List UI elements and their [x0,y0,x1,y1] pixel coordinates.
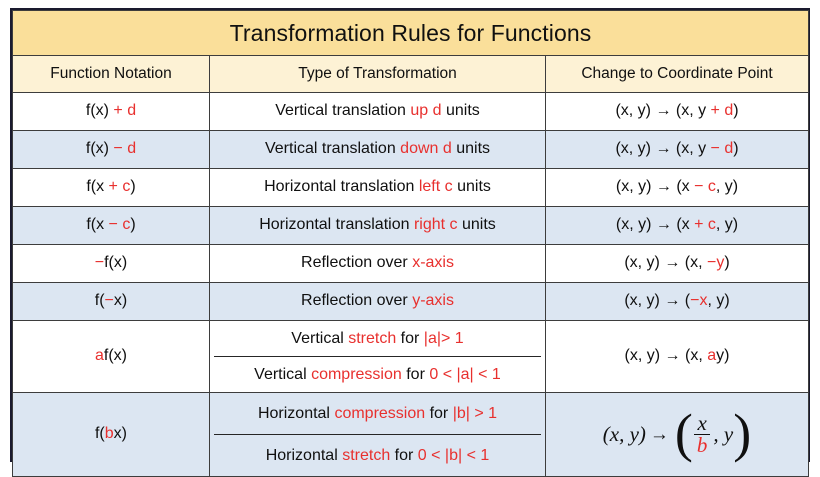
arrow-icon: → [664,292,680,309]
cell-function-notation: −f(x) [13,245,210,283]
cell-type-of-transformation: Vertical translation up d units [210,93,546,131]
cell-type-of-transformation: Reflection over x-axis [210,245,546,283]
cell-function-notation: f(bx) [13,393,210,477]
cell-type-of-transformation: Horizontal translation right c units [210,207,546,245]
text-plain: for [390,447,418,464]
text-highlight: −y [707,254,724,271]
column-header-type-of-transformation: Type of Transformation [210,56,546,93]
text-condition: |a|> 1 [424,330,464,347]
cell-coordinate-change-fraction: (x, y) → ( x b , y ) [546,393,809,477]
title-row: Transformation Rules for Functions [13,11,809,56]
text-plain: y) [716,347,729,364]
text-highlight: − [105,292,114,309]
text-plain: Vertical [291,330,348,347]
text-plain: (x, y) [616,216,656,233]
text-plain: (x, y) [624,254,664,271]
text-highlight: right c [414,216,458,233]
cell-type-of-transformation: Horizontal translation left c units [210,169,546,207]
text-highlight: compression [311,366,402,383]
math-expression: (x, y) → ( x b , y ) [603,413,751,457]
text-plain: f(x) [104,347,127,364]
table-row-merged: f(bx) Horizontal compression for |b| > 1… [13,393,809,477]
text-plain: Horizontal [258,405,334,422]
text-condition: 0 < |a| < 1 [429,366,500,383]
text-highlight: compression [334,405,425,422]
text-highlight: − [95,254,104,271]
cell-sub-type: Vertical stretch for |a|> 1 [214,321,541,357]
table-row: f(x + c) Horizontal translation left c u… [13,169,809,207]
cell-function-notation: f(x + c) [13,169,210,207]
text-plain: f(x [86,178,108,195]
text-highlight: − d [113,140,136,157]
text-plain: for [402,366,430,383]
text-highlight: + c [694,216,716,233]
text-plain: Horizontal [266,447,342,464]
cell-sub-type: Horizontal compression for |b| > 1 [214,393,541,435]
text-plain: f(x) [86,140,114,157]
text-plain: Horizontal translation [259,216,414,233]
text-highlight: a [95,347,104,364]
cell-function-notation: f(−x) [13,283,210,321]
table-row-merged: af(x) Vertical stretch for |a|> 1 Vertic… [13,321,809,393]
text-plain: ) [130,216,135,233]
cell-function-notation: f(x) + d [13,93,210,131]
text-highlight: y-axis [412,292,454,309]
open-paren: ( [675,417,693,450]
cell-coordinate-change: (x, y) → (x, y − d) [546,131,809,169]
text-plain: f( [95,425,105,442]
text-plain: (x, y [671,140,710,157]
arrow-icon: → [655,102,671,119]
cell-coordinate-change: (x, y) → (−x, y) [546,283,809,321]
sub-row: Horizontal compression for |b| > 1 [214,393,541,435]
cell-function-notation: f(x) − d [13,131,210,169]
sub-row: Vertical stretch for |a|> 1 [214,321,541,357]
column-header-row: Function Notation Type of Transformation… [13,56,809,93]
fraction: x b [694,413,711,457]
math-tail: , y [713,422,733,446]
sub-row: Vertical compression for 0 < |a| < 1 [214,357,541,393]
text-plain: (x, y) [615,102,655,119]
text-plain: (x, [680,254,707,271]
cell-coordinate-change: (x, y) → (x − c, y) [546,169,809,207]
text-plain: , y) [707,292,729,309]
text-highlight: x-axis [412,254,454,271]
text-plain: (x [672,216,694,233]
transformation-rules-table-container: Transformation Rules for Functions Funct… [10,8,810,462]
cell-type-of-transformation: Vertical translation down d units [210,131,546,169]
text-plain: ) [724,254,729,271]
text-plain: units [452,140,490,157]
text-plain: for [425,405,453,422]
cell-type-of-transformation: Reflection over y-axis [210,283,546,321]
text-plain: Reflection over [301,292,412,309]
math-lead: (x, y) [603,422,646,446]
text-plain: units [458,216,496,233]
text-plain: , y) [716,178,738,195]
text-highlight: −x [690,292,707,309]
table-row: −f(x) Reflection over x-axis (x, y) → (x… [13,245,809,283]
text-plain: (x, y [671,102,710,119]
cell-function-notation: f(x − c) [13,207,210,245]
text-condition: 0 < |b| < 1 [418,447,489,464]
text-plain: (x, y) [616,178,656,195]
page-title: Transformation Rules for Functions [13,11,809,56]
text-plain: Horizontal translation [264,178,419,195]
text-highlight: stretch [348,330,396,347]
text-highlight: + d [711,102,734,119]
text-plain: , y) [716,216,738,233]
text-plain: ) [130,178,135,195]
table-row: f(−x) Reflection over y-axis (x, y) → (−… [13,283,809,321]
arrow-icon: → [656,216,672,233]
text-plain: units [453,178,491,195]
text-plain: x) [114,292,127,309]
arrow-icon: → [650,424,669,446]
arrow-icon: → [665,347,681,364]
text-highlight: b [105,425,114,442]
text-plain: (x [672,178,694,195]
column-header-change-to-coordinate-point: Change to Coordinate Point [546,56,809,93]
cell-function-notation: af(x) [13,321,210,393]
fraction-denominator: b [694,434,711,456]
arrow-icon: → [664,254,680,271]
text-plain: f(x) [86,102,114,119]
cell-coordinate-change: (x, y) → (x, ay) [546,321,809,393]
text-highlight: down d [400,140,452,157]
text-plain: ( [680,292,690,309]
text-plain: units [442,102,480,119]
text-highlight: − c [109,216,131,233]
text-highlight: a [707,347,716,364]
cell-type-of-transformation-group: Horizontal compression for |b| > 1 Horiz… [210,393,546,477]
text-highlight: stretch [342,447,390,464]
text-plain: f( [95,292,105,309]
text-highlight: + c [109,178,131,195]
text-highlight: up d [410,102,441,119]
table-row: f(x − c) Horizontal translation right c … [13,207,809,245]
text-plain: for [396,330,424,347]
arrow-icon: → [655,140,671,157]
text-highlight: − d [711,140,734,157]
text-plain: (x, y) [615,140,655,157]
text-plain: (x, y) [624,292,664,309]
text-plain: Vertical [254,366,311,383]
text-plain: Vertical translation [265,140,400,157]
text-plain: Reflection over [301,254,412,271]
text-highlight: left c [419,178,453,195]
table-row: f(x) + d Vertical translation up d units… [13,93,809,131]
cell-coordinate-change: (x, y) → (x, y + d) [546,93,809,131]
text-plain: (x, y) [625,347,665,364]
text-highlight: + d [113,102,136,119]
text-plain: ) [733,140,738,157]
cell-coordinate-change: (x, y) → (x + c, y) [546,207,809,245]
column-header-function-notation: Function Notation [13,56,210,93]
sub-table: Vertical stretch for |a|> 1 Vertical com… [214,321,541,392]
text-plain: x) [114,425,127,442]
text-plain: ) [733,102,738,119]
table-row: f(x) − d Vertical translation down d uni… [13,131,809,169]
text-plain: Vertical translation [275,102,410,119]
cell-sub-type: Vertical compression for 0 < |a| < 1 [214,357,541,393]
arrow-icon: → [656,178,672,195]
text-plain: f(x) [104,254,127,271]
cell-type-of-transformation-group: Vertical stretch for |a|> 1 Vertical com… [210,321,546,393]
close-paren: ) [733,417,751,450]
cell-coordinate-change: (x, y) → (x, −y) [546,245,809,283]
sub-table: Horizontal compression for |b| > 1 Horiz… [214,393,541,476]
text-condition: |b| > 1 [453,405,497,422]
fraction-numerator: x [694,413,709,434]
text-plain: f(x [86,216,108,233]
text-plain: (x, [681,347,708,364]
transformation-rules-table: Transformation Rules for Functions Funct… [12,10,809,477]
text-highlight: − c [694,178,716,195]
